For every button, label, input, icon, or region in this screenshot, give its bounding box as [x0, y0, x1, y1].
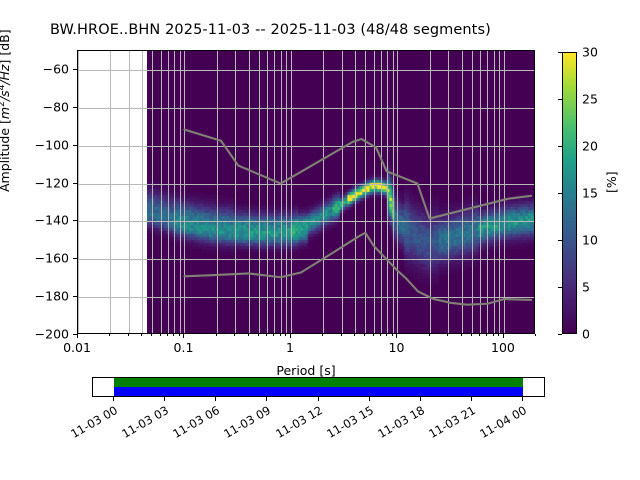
- timeline-tick-mark: [471, 397, 472, 401]
- timeline-tick-label: 11-04 00: [467, 403, 529, 447]
- plot-title: BW.HROE..BHN 2025-11-03 -- 2025-11-03 (4…: [50, 22, 491, 38]
- timeline-tick-mark: [522, 397, 523, 401]
- y-tick-label: −200: [0, 327, 69, 342]
- y-tick-label: −160: [0, 251, 69, 266]
- x-minor-tick-mark: [280, 334, 281, 336]
- x-tick-label: 1: [286, 340, 294, 355]
- x-minor-tick-mark: [493, 334, 494, 336]
- y-tick-mark: [73, 69, 77, 70]
- y-tick-label: −180: [0, 289, 69, 304]
- x-minor-tick-mark: [109, 334, 110, 336]
- x-tick-label: 0.01: [63, 340, 91, 355]
- x-minor-tick-mark: [141, 334, 142, 336]
- timeline-tick-label: 11-03 18: [364, 403, 426, 447]
- x-minor-tick-mark: [234, 334, 235, 336]
- x-minor-tick-mark: [461, 334, 462, 336]
- nhnm-curve: [184, 130, 531, 219]
- x-minor-tick-mark: [266, 334, 267, 336]
- noise-model-curves: [78, 51, 534, 333]
- x-minor-tick-mark: [341, 334, 342, 336]
- x-tick-mark: [396, 334, 397, 338]
- x-minor-tick-mark: [486, 334, 487, 336]
- y-tick-mark: [73, 258, 77, 259]
- x-tick-mark: [77, 334, 78, 338]
- x-minor-tick-mark: [216, 334, 217, 336]
- colorbar-tick-label: 10: [582, 233, 598, 248]
- x-minor-tick-mark: [479, 334, 480, 336]
- x-minor-tick-mark: [273, 334, 274, 336]
- colorbar-tick-mark: [558, 52, 562, 53]
- x-minor-tick-mark: [258, 334, 259, 336]
- x-minor-tick-mark: [248, 334, 249, 336]
- x-minor-tick-mark: [160, 334, 161, 336]
- timeline-tick-mark: [369, 397, 370, 401]
- x-minor-tick-mark: [322, 334, 323, 336]
- timeline-tick-mark: [420, 397, 421, 401]
- x-minor-tick-mark: [173, 334, 174, 336]
- x-minor-tick-mark: [167, 334, 168, 336]
- x-minor-tick-mark: [128, 334, 129, 336]
- colorbar-tick-label: 15: [582, 186, 598, 201]
- ppsd-figure: BW.HROE..BHN 2025-11-03 -- 2025-11-03 (4…: [0, 0, 640, 480]
- timeline-tick-label: 11-03 09: [211, 403, 273, 447]
- x-minor-tick-mark: [386, 334, 387, 336]
- x-tick-label: 10: [389, 340, 405, 355]
- ppsd-axes[interactable]: [77, 50, 535, 334]
- timeline-tick-mark: [266, 397, 267, 401]
- y-axis-title-text: Amplitude [m2/s4/Hz] [dB]: [0, 29, 12, 192]
- x-minor-tick-mark: [285, 334, 286, 336]
- colorbar-tick-label: 30: [582, 45, 598, 60]
- colorbar-tick-mark: [558, 146, 562, 147]
- y-tick-mark: [73, 183, 77, 184]
- x-minor-tick-mark: [354, 334, 355, 336]
- colorbar-tick-mark: [558, 99, 562, 100]
- timeline-tick-mark: [164, 397, 165, 401]
- y-axis-title: Amplitude [m2/s4/Hz] [dB]: [0, 29, 12, 192]
- x-tick-label: 0.1: [174, 340, 194, 355]
- x-minor-tick-mark: [429, 334, 430, 336]
- coverage-bar-blue: [114, 387, 523, 396]
- colorbar-tick-label: 25: [582, 92, 598, 107]
- y-tick-label: −140: [0, 213, 69, 228]
- nlnm-curve: [184, 233, 531, 305]
- x-tick-label: 100: [491, 340, 515, 355]
- colorbar-tick-mark: [558, 287, 562, 288]
- x-tick-mark: [183, 334, 184, 338]
- timeline-tick-mark: [215, 397, 216, 401]
- colorbar-tick-label: 5: [582, 280, 590, 295]
- colorbar-tick-mark: [558, 240, 562, 241]
- y-tick-mark: [73, 107, 77, 108]
- x-minor-tick-mark: [498, 334, 499, 336]
- timeline-tick-mark: [318, 397, 319, 401]
- x-minor-tick-mark: [471, 334, 472, 336]
- axes-clip: [78, 51, 534, 333]
- timeline-tick-label: 11-03 12: [262, 403, 324, 447]
- x-minor-tick-mark: [447, 334, 448, 336]
- x-minor-tick-mark: [392, 334, 393, 336]
- colorbar[interactable]: [562, 52, 577, 334]
- x-minor-tick-mark: [535, 334, 536, 336]
- x-minor-tick-mark: [151, 334, 152, 336]
- x-tick-mark: [290, 334, 291, 338]
- x-minor-tick-mark: [364, 334, 365, 336]
- x-minor-tick-mark: [179, 334, 180, 336]
- y-tick-mark: [73, 220, 77, 221]
- timeline-tick-label: 11-03 15: [313, 403, 375, 447]
- coverage-bar-green: [114, 378, 523, 387]
- x-minor-tick-mark: [380, 334, 381, 336]
- x-tick-mark: [503, 334, 504, 338]
- timeline-tick-label: 11-03 21: [415, 403, 477, 447]
- y-tick-mark: [73, 296, 77, 297]
- colorbar-tick-mark: [558, 193, 562, 194]
- x-minor-tick-mark: [373, 334, 374, 336]
- x-axis-title: Period [s]: [276, 363, 335, 378]
- colorbar-title: [%]: [604, 171, 619, 193]
- coverage-timeline[interactable]: [92, 377, 545, 397]
- colorbar-tick-mark: [558, 334, 562, 335]
- timeline-tick-mark: [113, 397, 114, 401]
- colorbar-tick-label: 20: [582, 139, 598, 154]
- timeline-tick-label: 11-03 00: [58, 403, 120, 447]
- colorbar-tick-label: 0: [582, 327, 590, 342]
- y-tick-mark: [73, 145, 77, 146]
